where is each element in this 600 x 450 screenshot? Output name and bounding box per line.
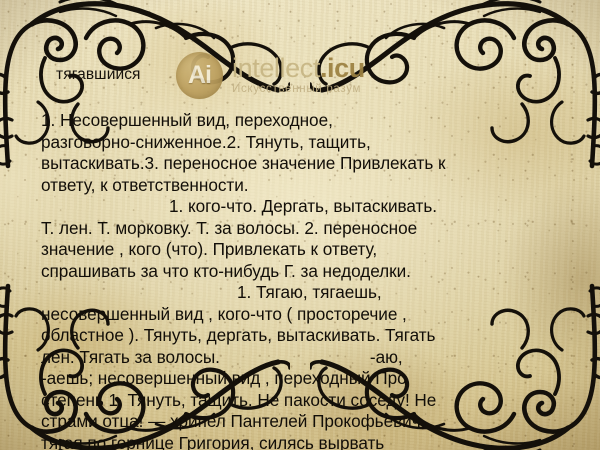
dictionary-body: 1. Несовершенный вид, переходное, разгов… bbox=[41, 110, 571, 450]
watermark-title: intellect.icu bbox=[232, 55, 365, 83]
entry-1-line-2: разговорно-сниженное.2. Тянуть, тащить, bbox=[41, 132, 571, 154]
entry-2-line-3: значение , кого (что). Привлекать к отве… bbox=[41, 239, 571, 261]
watermark: Ai intellect.icu Искусственный разум bbox=[176, 52, 365, 99]
entry-2-line-2: Т. лен. Т. морковку. Т. за волосы. 2. пе… bbox=[41, 218, 571, 240]
entry-3-line-3: областное ). Тянуть, дергать, вытаскиват… bbox=[41, 325, 571, 347]
entry-4-line-3: страми отца! — хрипел Пантелей Прокофьев… bbox=[41, 411, 571, 433]
entry-2-line-4: спрашивать за что кто-нибудь Г. за недод… bbox=[41, 261, 571, 283]
ai-logo-icon: Ai bbox=[176, 52, 223, 99]
entry-1-line-1: 1. Несовершенный вид, переходное, bbox=[41, 110, 571, 132]
dictionary-slide: Ai intellect.icu Искусственный разум тяг… bbox=[0, 0, 600, 450]
entry-3-line-2: несовершенный вид , кого-что ( простореч… bbox=[41, 304, 571, 326]
entry-2-line-1: 1. кого-что. Дергать, вытаскивать. bbox=[41, 196, 571, 218]
watermark-text: intellect.icu Искусственный разум bbox=[232, 55, 365, 96]
entry-3-line-4: лен. Тягать за волосы.-аю, bbox=[41, 347, 571, 369]
page-title: тягавшийся bbox=[56, 66, 141, 84]
entry-3-line-1-text: 1. Тягаю, тягаешь, bbox=[237, 282, 382, 302]
entry-1-line-3: вытаскивать.3. переносное значение Привл… bbox=[41, 153, 571, 175]
watermark-title-bold: .icu bbox=[320, 53, 365, 83]
watermark-title-light: intellect bbox=[232, 53, 320, 83]
entry-2-line-1-text: 1. кого-что. Дергать, вытаскивать. bbox=[169, 196, 437, 216]
entry-3-line-4-end: -аю, bbox=[370, 347, 403, 367]
entry-3-line-4-start: лен. Тягать за волосы. bbox=[41, 347, 220, 367]
entry-1-line-4: ответу, к ответственности. bbox=[41, 175, 571, 197]
entry-4-line-4: тягая по горнице Григория, силясь вырват… bbox=[41, 433, 571, 450]
entry-3-line-1: 1. Тягаю, тягаешь, bbox=[41, 282, 571, 304]
entry-4-line-1: -аешь; несовершенный вид , переходный Пр… bbox=[41, 368, 571, 390]
entry-4-line-2: степень 1. Тянуть, тащить. Не пакости со… bbox=[41, 390, 571, 412]
ai-logo-text: Ai bbox=[188, 63, 211, 88]
watermark-subtitle: Искусственный разум bbox=[232, 84, 365, 96]
